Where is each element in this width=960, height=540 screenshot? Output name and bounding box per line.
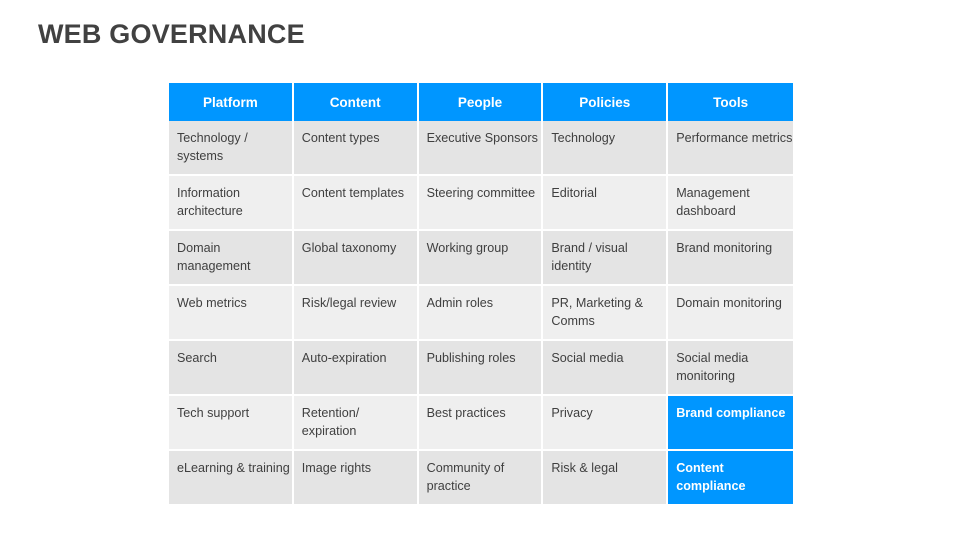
page-title: WEB GOVERNANCE [38,17,305,51]
table-cell: Technology [543,121,668,176]
cell-text: Privacy [551,405,666,423]
cell-text: Retention/ expiration [302,405,417,440]
table-cell: Risk/legal review [294,286,419,341]
cell-text: Social media [551,350,666,368]
table-cell: Management dashboard [668,176,793,231]
table-cell: Risk & legal [543,451,668,504]
cell-text: Web metrics [177,295,292,313]
table-cell: Admin roles [419,286,544,341]
table-header: Platform Content People Policies Tools [169,83,793,121]
table-row: Web metrics Risk/legal review Admin role… [169,286,793,341]
table-cell: Privacy [543,396,668,451]
cell-text: Community of practice [427,460,542,495]
cell-text: Image rights [302,460,417,478]
governance-matrix-table: Platform Content People Policies Tools T… [169,83,793,504]
cell-text: eLearning & training [177,460,292,478]
table-cell: PR, Marketing & Comms [543,286,668,341]
table-cell: Brand monitoring [668,231,793,286]
table-row: Search Auto-expiration Publishing roles … [169,341,793,396]
table-cell: Best practices [419,396,544,451]
cell-text: Brand / visual identity [551,240,666,275]
table-cell: Brand / visual identity [543,231,668,286]
table-cell: Executive Sponsors [419,121,544,176]
table-cell: Image rights [294,451,419,504]
cell-text: Domain monitoring [676,295,793,313]
table-row: Tech support Retention/ expiration Best … [169,396,793,451]
cell-text: Admin roles [427,295,542,313]
cell-text: Performance metrics [676,130,793,148]
cell-text: Steering committee [427,185,542,203]
table-cell: Social media monitoring [668,341,793,396]
column-header-policies[interactable]: Policies [543,83,668,121]
table-cell-highlighted-brand-compliance[interactable]: Brand compliance [668,396,793,451]
cell-text: Technology [551,130,666,148]
table-cell: Community of practice [419,451,544,504]
cell-text: Social media monitoring [676,350,793,385]
table-cell: Retention/ expiration [294,396,419,451]
cell-text: PR, Marketing & Comms [551,295,666,330]
table-cell: Editorial [543,176,668,231]
table-cell: Search [169,341,294,396]
column-header-people[interactable]: People [419,83,544,121]
cell-text: Risk & legal [551,460,666,478]
table-cell: Information architecture [169,176,294,231]
table-row: Domain management Global taxonomy Workin… [169,231,793,286]
cell-text: Domain management [177,240,292,275]
table-cell: Domain monitoring [668,286,793,341]
table-row: Information architecture Content templat… [169,176,793,231]
table-cell: Tech support [169,396,294,451]
table-cell-highlighted-content-compliance[interactable]: Content compliance [668,451,793,504]
cell-text: Technology / systems [177,130,292,165]
cell-text: Auto-expiration [302,350,417,368]
table-header-row: Platform Content People Policies Tools [169,83,793,121]
table-body: Technology / systems Content types Execu… [169,121,793,504]
table-cell: Global taxonomy [294,231,419,286]
cell-text: Brand monitoring [676,240,793,258]
column-header-content[interactable]: Content [294,83,419,121]
cell-text: Risk/legal review [302,295,417,313]
table-row: eLearning & training Image rights Commun… [169,451,793,504]
column-header-tools[interactable]: Tools [668,83,793,121]
table-cell: Performance metrics [668,121,793,176]
cell-text: Publishing roles [427,350,542,368]
slide-canvas: WEB GOVERNANCE Platform Content People P… [0,0,960,540]
cell-text: Executive Sponsors [427,130,542,148]
cell-text: Brand compliance [676,405,793,423]
cell-text: Tech support [177,405,292,423]
table-cell: Technology / systems [169,121,294,176]
table-cell: eLearning & training [169,451,294,504]
cell-text: Content templates [302,185,417,203]
cell-text: Global taxonomy [302,240,417,258]
cell-text: Management dashboard [676,185,793,220]
table-cell: Web metrics [169,286,294,341]
table-row: Technology / systems Content types Execu… [169,121,793,176]
cell-text: Working group [427,240,542,258]
column-header-platform[interactable]: Platform [169,83,294,121]
cell-text: Search [177,350,292,368]
table-cell: Publishing roles [419,341,544,396]
table-cell: Content templates [294,176,419,231]
table-cell: Content types [294,121,419,176]
table-cell: Social media [543,341,668,396]
cell-text: Content types [302,130,417,148]
table-cell: Steering committee [419,176,544,231]
table-cell: Domain management [169,231,294,286]
table-cell: Auto-expiration [294,341,419,396]
table-cell: Working group [419,231,544,286]
cell-text: Information architecture [177,185,292,220]
cell-text: Content compliance [676,460,793,495]
cell-text: Editorial [551,185,666,203]
cell-text: Best practices [427,405,542,423]
